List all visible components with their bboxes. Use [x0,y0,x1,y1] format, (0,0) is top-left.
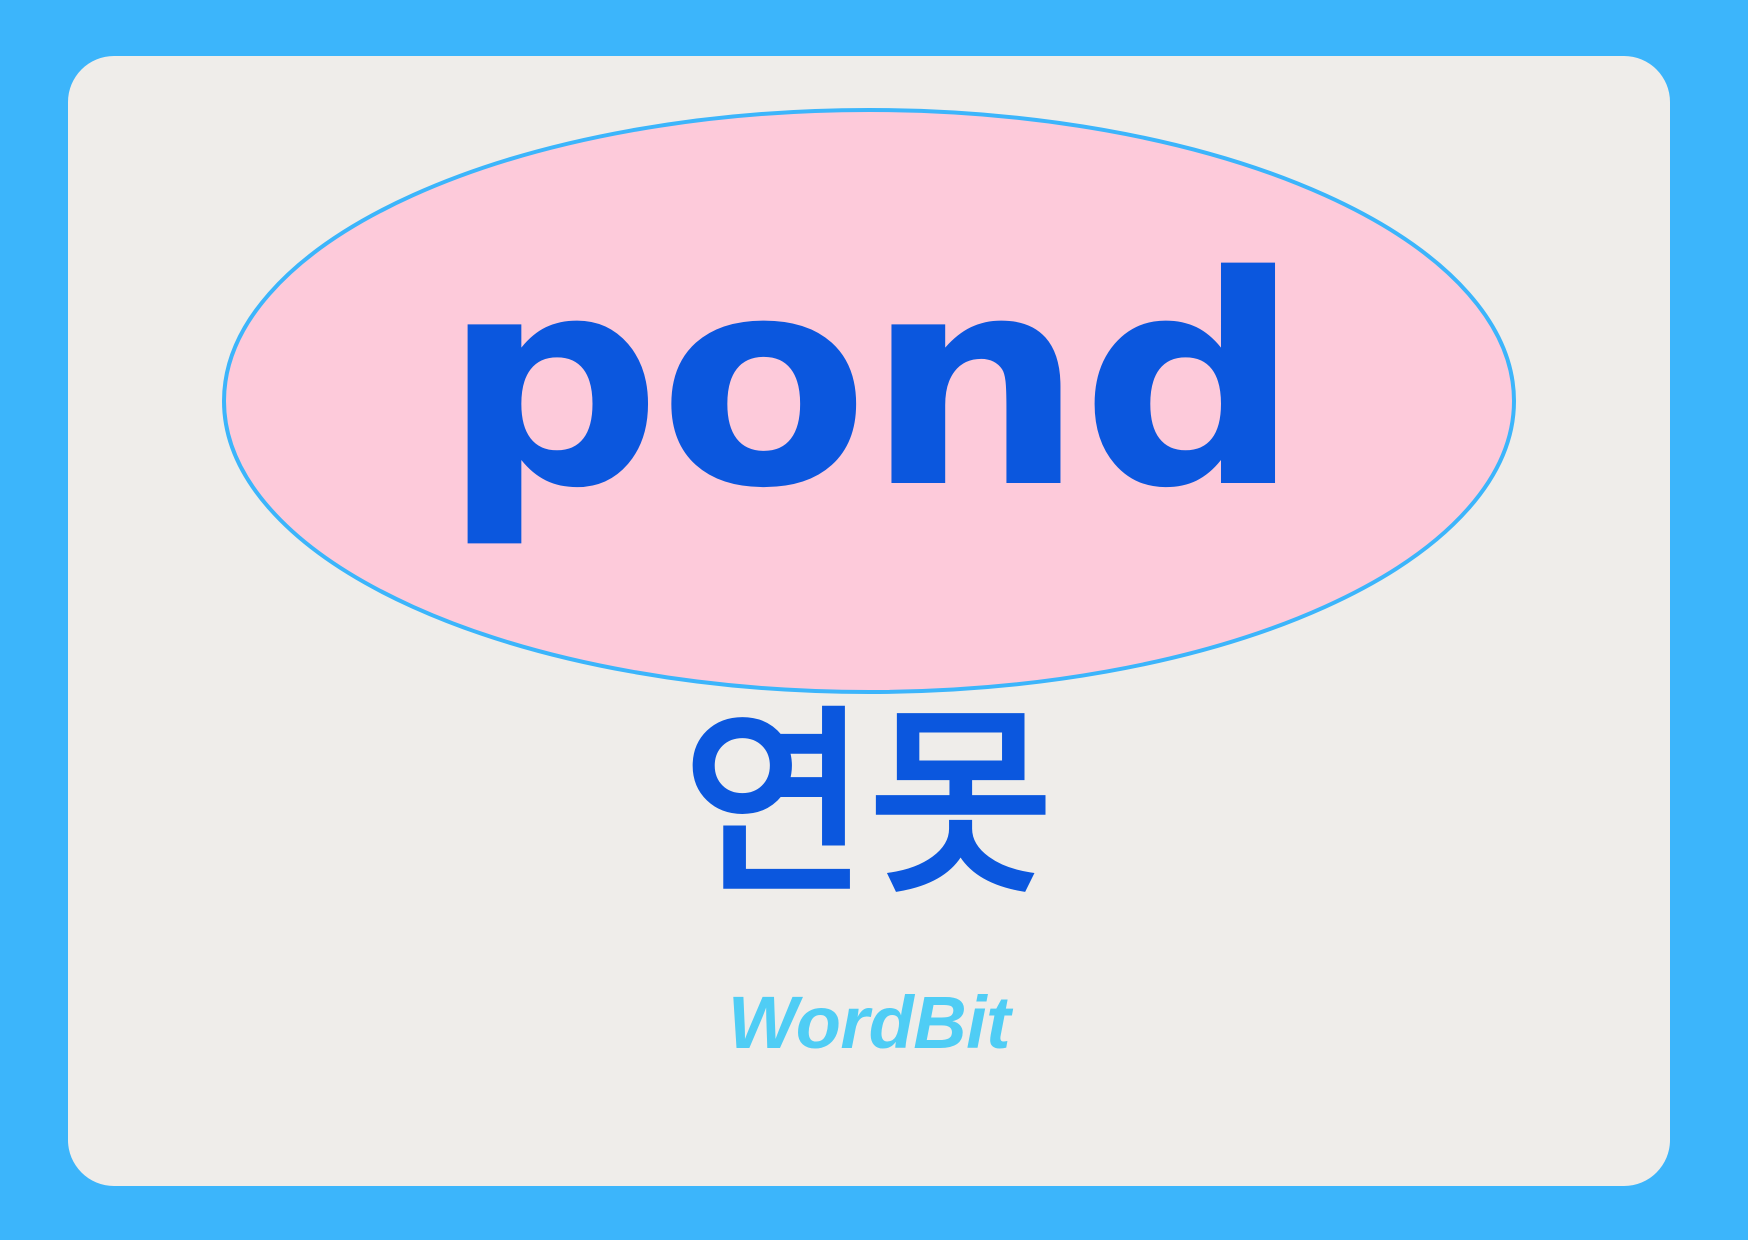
term-area: pond [68,56,1670,696]
meaning-area: 연못 [68,706,1670,906]
flashcard-card[interactable]: pond 연못 WordBit [68,56,1670,1186]
term-text: pond [441,251,1296,518]
meaning-text: 연못 [68,706,1670,906]
brand-area: WordBit [68,986,1670,1060]
brand-wordmark: WordBit [68,986,1670,1060]
flashcard-screen: pond 연못 WordBit [0,0,1748,1240]
